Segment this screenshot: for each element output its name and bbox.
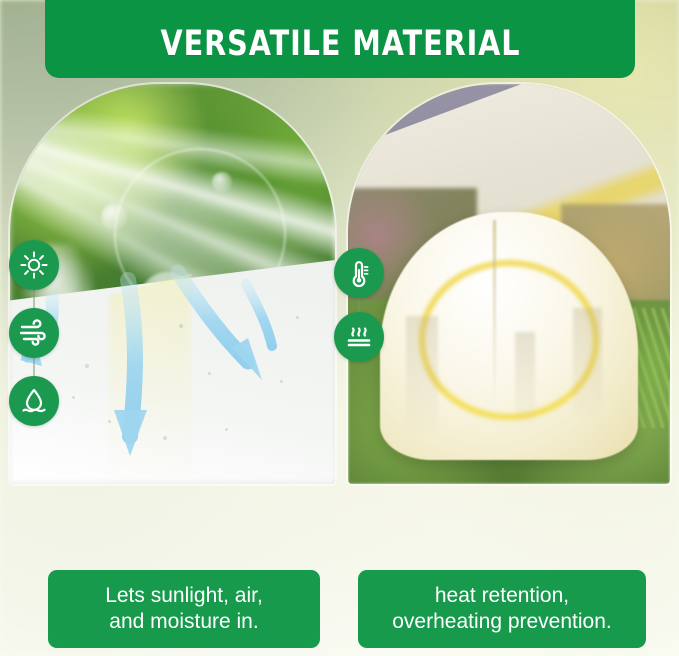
breathability-photo [10,84,335,484]
cover-yellow-band [419,260,599,420]
badge-connector [33,358,35,376]
badge-connector [358,298,360,312]
badge-connector [33,290,35,308]
panel-thermal [348,84,670,562]
page-title: VERSATILE MATERIAL [160,24,520,64]
panel-breathability [10,84,335,562]
water-drop-icon [9,376,59,426]
thermometer-icon [334,248,384,298]
caption-thermal: heat retention, overheating prevention. [358,570,646,648]
wind-icon [9,308,59,358]
heat-waves-icon [334,312,384,362]
cover-seam [493,220,496,404]
airflow-arrows-icon [10,84,335,484]
cover-fold [406,316,438,436]
caption-breathability-text: Lets sunlight, air, and moisture in. [95,583,273,636]
cover-fold [573,308,602,420]
caption-breathability: Lets sunlight, air, and moisture in. [48,570,320,648]
caption-thermal-text: heat retention, overheating prevention. [382,583,622,636]
cover-fold [515,332,534,428]
sun-icon [9,240,59,290]
thermal-photo [348,84,670,484]
header-banner: VERSATILE MATERIAL [45,0,635,78]
